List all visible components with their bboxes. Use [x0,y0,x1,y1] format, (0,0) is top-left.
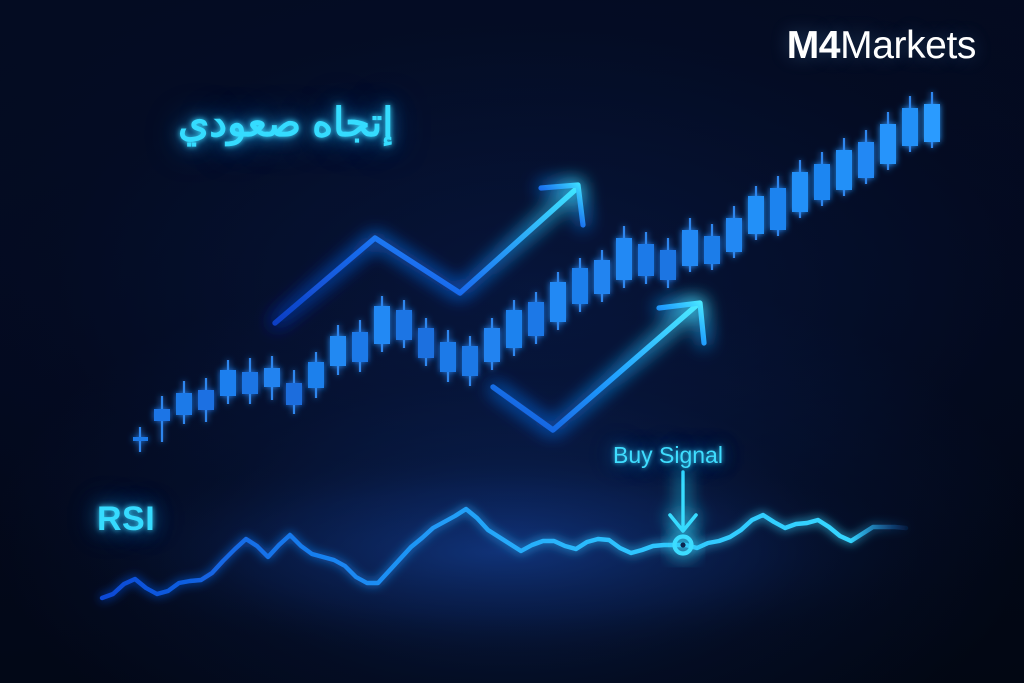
candlestick-series [133,92,940,452]
trading-chart-graphic [0,0,1024,683]
brand-logo-strong: M4 [787,24,840,67]
headline-arabic: إتجاه صعودي [178,100,393,146]
chart-canvas: M4Markets إتجاه صعودي RSI Buy Signal [0,0,1024,683]
brand-logo[interactable]: M4Markets [787,26,976,65]
buy-signal-label: Buy Signal [613,442,723,469]
secondary-trend-arrow [493,303,704,430]
rsi-indicator-label: RSI [97,500,155,539]
brand-logo-light: Markets [840,24,976,67]
rsi-panel-glow [70,447,930,657]
